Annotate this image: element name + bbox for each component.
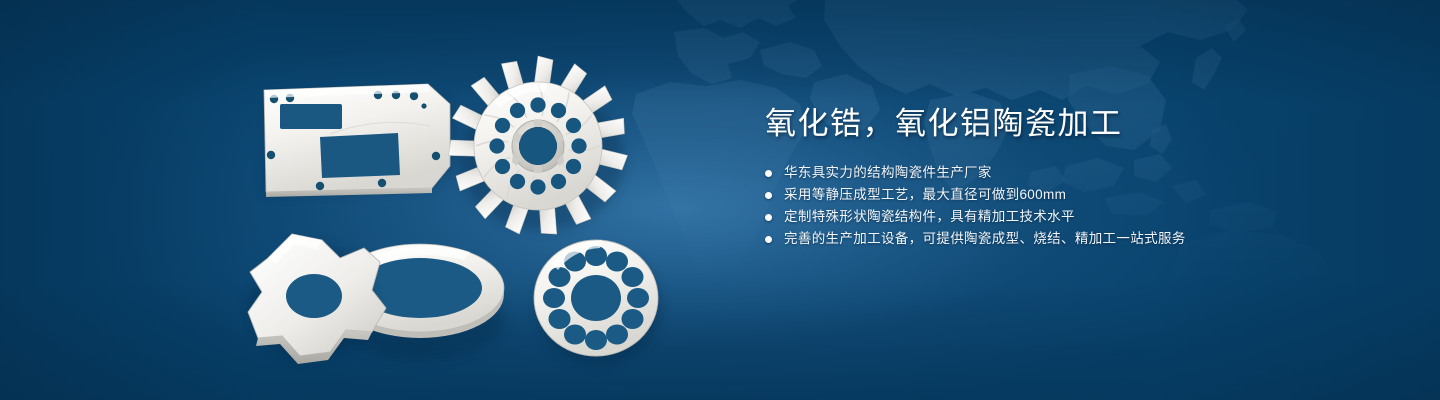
bullet-dot-icon (765, 236, 772, 243)
list-item: 定制特殊形状陶瓷结构件，具有精加工技术水平 (765, 206, 1385, 228)
feature-list: 华东具实力的结构陶瓷件生产厂家 采用等静压成型工艺，最大直径可做到600mm 定… (765, 162, 1385, 250)
ceramic-perforated-disc (534, 240, 661, 365)
page-title: 氧化锆，氧化铝陶瓷加工 (765, 104, 1385, 144)
list-item: 华东具实力的结构陶瓷件生产厂家 (765, 162, 1385, 184)
bullet-dot-icon (765, 214, 772, 221)
bullet-dot-icon (765, 170, 772, 177)
feature-text: 定制特殊形状陶瓷结构件，具有精加工技术水平 (784, 206, 1075, 228)
ceramic-plate-with-cutouts (264, 84, 452, 197)
list-item: 采用等静压成型工艺，最大直径可做到600mm (765, 184, 1385, 206)
list-item: 完善的生产加工设备，可提供陶瓷成型、烧结、精加工一站式服务 (765, 228, 1385, 250)
promo-banner: 氧化锆，氧化铝陶瓷加工 华东具实力的结构陶瓷件生产厂家 采用等静压成型工艺，最大… (0, 0, 1440, 400)
feature-text: 完善的生产加工设备，可提供陶瓷成型、烧结、精加工一站式服务 (784, 228, 1186, 250)
feature-text: 华东具实力的结构陶瓷件生产厂家 (784, 162, 992, 184)
feature-text: 采用等静压成型工艺，最大直径可做到600mm (784, 184, 1066, 206)
bullet-dot-icon (765, 192, 772, 199)
ceramic-products-image (0, 0, 740, 400)
ceramic-impeller-disc (447, 56, 628, 237)
banner-copy: 氧化锆，氧化铝陶瓷加工 华东具实力的结构陶瓷件生产厂家 采用等静压成型工艺，最大… (765, 104, 1385, 250)
